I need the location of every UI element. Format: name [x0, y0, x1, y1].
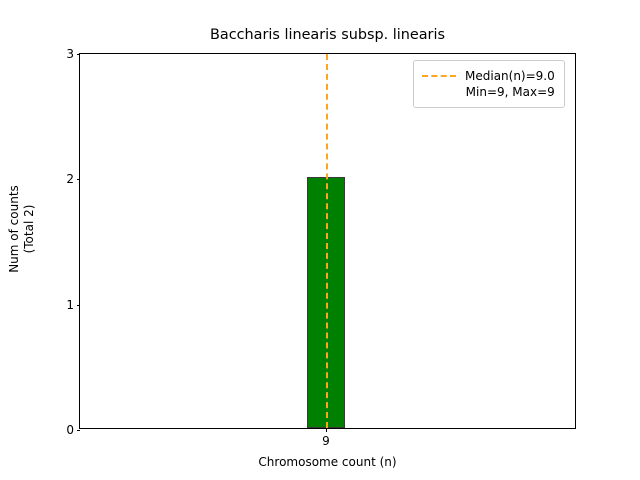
- legend-entry-median: Median(n)=9.0: [422, 67, 555, 84]
- dashed-line-icon: [422, 75, 456, 77]
- ytick-mark: [77, 54, 81, 55]
- xtick-mark: [326, 428, 327, 432]
- ytick-label: 2: [66, 172, 74, 186]
- ytick-label: 3: [66, 47, 74, 61]
- y-axis-label-line2: (Total 2): [22, 205, 37, 254]
- x-axis-label: Chromosome count (n): [79, 455, 576, 469]
- legend-label-median: Median(n)=9.0: [465, 69, 555, 83]
- ytick-mark: [77, 305, 81, 306]
- legend: Median(n)=9.0 Min=9, Max=9: [413, 60, 565, 108]
- y-axis-label: Num of counts (Total 2): [0, 41, 44, 417]
- median-line: [326, 54, 328, 428]
- ytick-mark: [77, 430, 81, 431]
- plot-area: 0 1 2 3 9: [79, 53, 576, 429]
- ytick-label: 0: [66, 423, 74, 437]
- ytick-label: 1: [66, 298, 74, 312]
- ytick-mark: [77, 179, 81, 180]
- legend-label-range: Min=9, Max=9: [422, 84, 555, 101]
- chart-title: Baccharis linearis subsp. linearis: [79, 28, 576, 42]
- plot-inner: [80, 54, 575, 428]
- xtick-label: 9: [322, 434, 330, 448]
- chart-figure: Baccharis linearis subsp. linearis 0 1 2…: [0, 0, 640, 480]
- y-axis-label-line1: Num of counts: [7, 185, 22, 273]
